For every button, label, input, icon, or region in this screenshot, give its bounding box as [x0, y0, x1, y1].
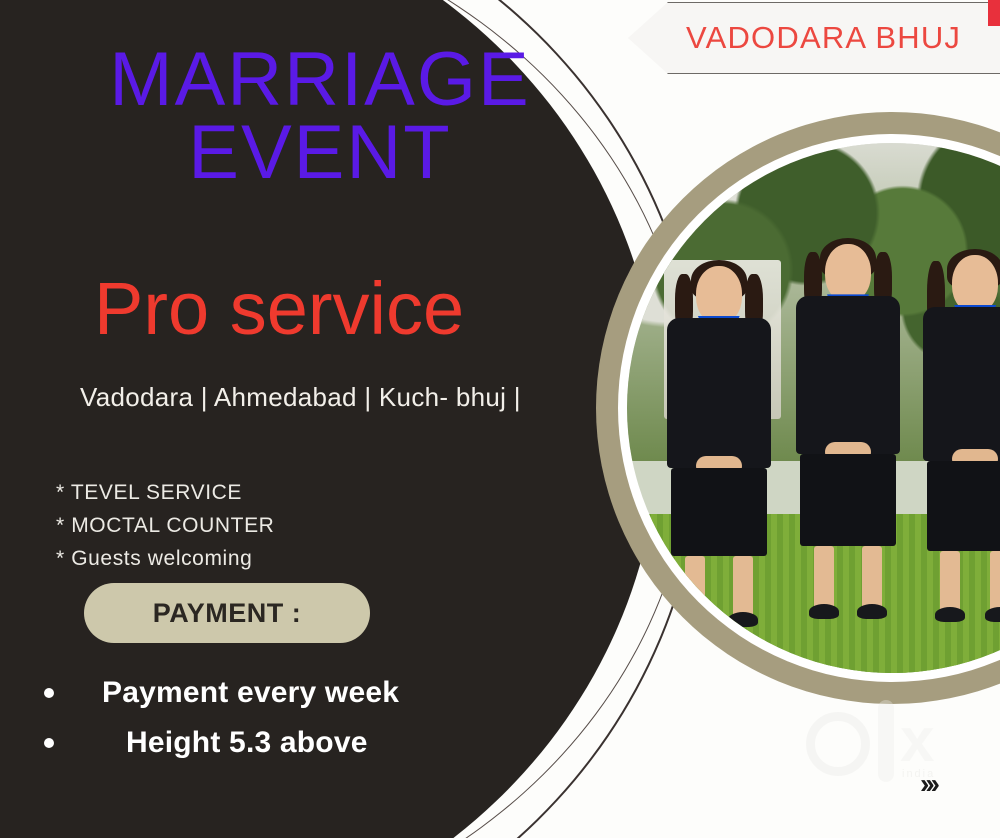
list-item: Payment every week	[44, 668, 544, 718]
bullet-dot-icon	[44, 738, 54, 748]
cities-line: Vadodara | Ahmedabad | Kuch- bhuj |	[80, 382, 521, 413]
red-corner-chip	[988, 0, 1000, 26]
team-photo	[627, 143, 1000, 673]
ribbon-label: VADODARA BHUJ	[686, 20, 961, 56]
olx-x-icon: x	[900, 714, 956, 770]
requirement-label: Height 5.3 above	[126, 726, 368, 760]
photo-frame-ring	[596, 112, 1000, 704]
page-title: MARRIAGE EVENT	[60, 44, 580, 190]
payment-badge: PAYMENT :	[84, 583, 370, 643]
requirement-label: Payment every week	[102, 676, 399, 710]
headline-line-1: MARRIAGE	[60, 44, 580, 117]
services-list: * TEVEL SERVICE * MOCTAL COUNTER * Guest…	[56, 476, 274, 575]
photo-person	[913, 249, 1000, 662]
photo-people-group	[627, 143, 1000, 673]
list-item: * TEVEL SERVICE	[56, 476, 274, 509]
photo-person	[659, 260, 779, 663]
list-item: Height 5.3 above	[44, 718, 544, 768]
list-item: * Guests welcoming	[56, 542, 274, 575]
olx-l-icon	[878, 700, 894, 782]
chevrons-icon: ›››	[920, 768, 936, 800]
bullet-dot-icon	[44, 688, 54, 698]
payment-badge-label: PAYMENT :	[153, 598, 302, 629]
photo-frame-inner-ring	[618, 134, 1000, 682]
poster-canvas: VADODARA BHUJ MARRIAGE EVENT Pro service…	[0, 0, 1000, 838]
location-ribbon-banner: VADODARA BHUJ	[628, 2, 1000, 74]
photo-person	[786, 238, 910, 662]
requirements-list: Payment every week Height 5.3 above	[44, 668, 544, 768]
headline-line-2: EVENT	[60, 117, 580, 190]
olx-o-icon	[806, 712, 870, 776]
subtitle: Pro service	[94, 272, 464, 346]
list-item: * MOCTAL COUNTER	[56, 509, 274, 542]
